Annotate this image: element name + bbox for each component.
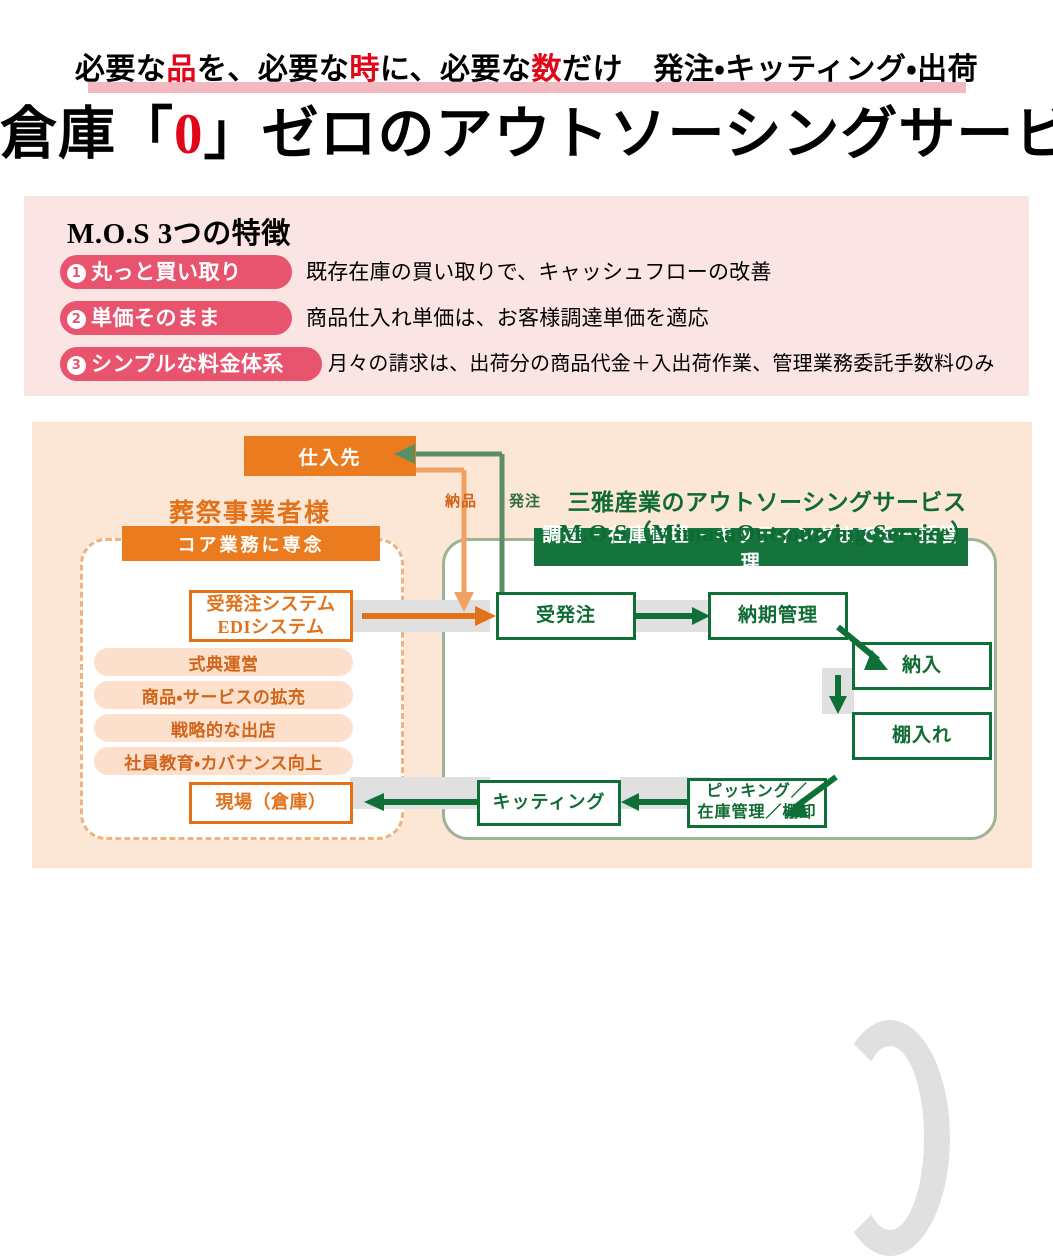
features-title: M.O.S 3つの特徴: [67, 210, 291, 252]
headline-text: を、必要な: [197, 53, 350, 86]
feature-description: 月々の請求は、出荷分の商品代金＋入出荷作業、管理業務委託手数料のみ: [328, 347, 995, 381]
headline-block: 必要な品を、必要な時に、必要な数だけ 発注・キッティング・出荷 倉庫「0」ゼロの…: [0, 48, 1053, 168]
gray-cycle-ring: [830, 1020, 950, 1256]
headline-text: 必要な: [75, 53, 167, 86]
page-title: 倉庫「0」ゼロのアウトソーシングサービス: [0, 102, 1053, 168]
feature-description: 商品仕入れ単価は、お客様調達単価を適応: [306, 301, 709, 335]
feature-number: 2: [67, 310, 86, 329]
arrowhead-nouhin: [454, 592, 474, 612]
connector-label-hatchu: 発注: [509, 490, 541, 511]
connector-label-nouhin: 納品: [445, 490, 477, 511]
arrowhead-order-to-schedule: [692, 607, 710, 625]
mos-heading-line1: 三雅産業のアウトソーシングサービス: [537, 488, 997, 518]
feature-number: 3: [67, 356, 86, 375]
headline-accent-char: 品: [166, 53, 197, 86]
arrowhead-hatchu: [394, 444, 415, 464]
feature-badge: 3シンプルな料金体系: [60, 347, 322, 381]
feature-row: 3シンプルな料金体系月々の請求は、出荷分の商品代金＋入出荷作業、管理業務委託手数…: [60, 347, 995, 381]
feature-row: 1丸っと買い取り既存在庫の買い取りで、キャッシュフローの改善: [60, 255, 772, 289]
headline-subtitle-wrap: 必要な品を、必要な時に、必要な数だけ 発注・キッティング・出荷: [0, 48, 1053, 96]
headline-accent-char: 数: [532, 53, 563, 86]
headline-accent-char: 時: [349, 53, 380, 86]
feature-label: シンプルな料金体系: [91, 352, 284, 376]
arrowhead-delivery-to-shelving: [829, 696, 847, 714]
arrowhead-kitting-to-site: [364, 793, 384, 811]
feature-badge: 1丸っと買い取り: [60, 255, 292, 289]
features-panel: M.O.S 3つの特徴 1丸っと買い取り既存在庫の買い取りで、キャッシュフローの…: [24, 196, 1029, 396]
title-suffix: 」ゼロのアウトソーシングサービス: [204, 103, 1053, 166]
feature-label: 単価そのまま: [91, 306, 220, 330]
headline-text: に、必要な: [380, 53, 532, 86]
arrowhead-picking-to-kitting: [621, 793, 639, 811]
title-prefix: 倉庫「: [0, 103, 174, 166]
headline-text: だけ 発注・キッティング・出荷: [562, 53, 978, 86]
workflow-diagram: 仕入先 納品 発注 葬祭事業者様 コア業務に専念 受発注システム EDIシステム…: [32, 422, 1032, 868]
feature-description: 既存在庫の買い取りで、キャッシュフローの改善: [306, 255, 772, 289]
client-heading: 葬祭事業者様: [140, 493, 360, 529]
feature-row: 2単価そのまま商品仕入れ単価は、お客様調達単価を適応: [60, 301, 709, 335]
mos-heading: 三雅産業のアウトソーシングサービス M.O.S（MimasaOutsourcin…: [537, 488, 997, 550]
mos-heading-line2: M.O.S（MimasaOutsourcing Service）: [537, 518, 997, 550]
feature-label: 丸っと買い取り: [91, 260, 242, 284]
title-zero: 0: [174, 103, 204, 166]
feature-badge: 2単価そのまま: [60, 301, 292, 335]
arrowhead-edi-to-order: [475, 606, 496, 626]
feature-number: 1: [67, 264, 86, 283]
headline-subtitle: 必要な品を、必要な時に、必要な数だけ 発注・キッティング・出荷: [0, 48, 1053, 92]
